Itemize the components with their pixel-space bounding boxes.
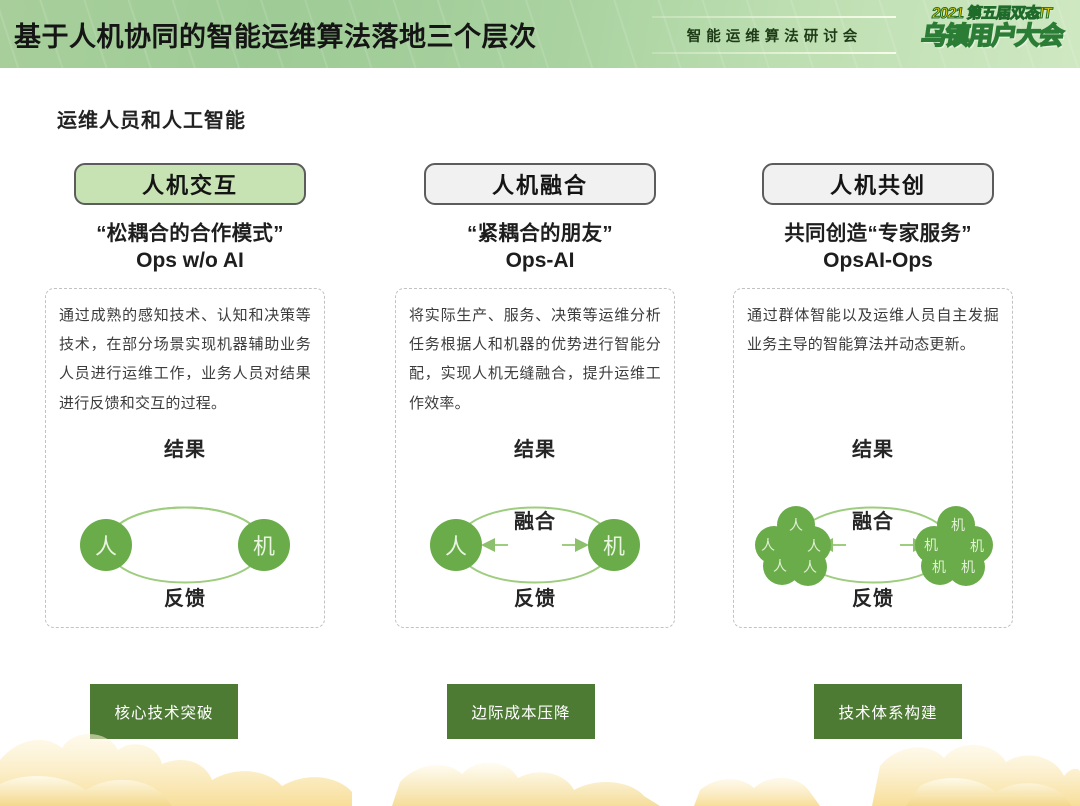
layer-pill-3[interactable]: 人机共创 xyxy=(762,163,994,205)
outcome-button-3[interactable]: 技术体系构建 xyxy=(814,684,962,739)
diagram-right-node-label-2: 机 xyxy=(603,534,625,559)
diagram-center-label-2: 融合 xyxy=(396,505,674,534)
diagram-top-label-1: 结果 xyxy=(46,433,324,462)
cycle-diagram-2: 结果 人 机 融合 反馈 xyxy=(396,433,674,613)
svg-text:机: 机 xyxy=(932,559,946,575)
svg-text:机: 机 xyxy=(961,559,975,575)
page-header: 基于人机协同的智能运维算法落地三个层次 智能运维算法研讨会 2021 第五届双态… xyxy=(0,0,1080,68)
diagram-bottom-label-1: 反馈 xyxy=(46,582,324,611)
diagram-right-node-label-1: 机 xyxy=(253,534,275,559)
outcome-button-2[interactable]: 边际成本压降 xyxy=(447,684,595,739)
svg-text:人: 人 xyxy=(807,538,821,554)
diagram-top-label-3: 结果 xyxy=(734,433,1012,462)
layer-body-card-1: 通过成熟的感知技术、认知和决策等技术，在部分场景实现机器辅助业务人员进行运维工作… xyxy=(45,288,325,628)
layer-body-card-2: 将实际生产、服务、决策等运维分析任务根据人和机器的优势进行智能分配，实现人机无缝… xyxy=(395,288,675,628)
layer-headline-en-2: Ops-AI xyxy=(395,247,685,275)
layer-headline-en-1: Ops w/o AI xyxy=(45,247,335,275)
outcome-button-1[interactable]: 核心技术突破 xyxy=(90,684,238,739)
diagram-center-label-3: 融合 xyxy=(734,505,1012,534)
layer-column-2: 人机融合 “紧耦合的朋友” Ops-AI 将实际生产、服务、决策等运维分析任务根… xyxy=(395,163,685,628)
layer-headline-1: “松耦合的合作模式” Ops w/o AI xyxy=(45,220,335,275)
diagram-left-node-label-2: 人 xyxy=(445,534,467,559)
event-subtitle-block: 智能运维算法研讨会 xyxy=(648,16,896,54)
layer-column-1: 人机交互 “松耦合的合作模式” Ops w/o AI 通过成熟的感知技术、认知和… xyxy=(45,163,335,628)
subtitle-rule-top xyxy=(652,16,896,18)
event-logo-line-2: 乌镇用户大会 xyxy=(914,24,1070,49)
page-title: 基于人机协同的智能运维算法落地三个层次 xyxy=(14,15,537,54)
layer-column-3: 人机共创 共同创造“专家服务” OpsAI-Ops 通过群体智能以及运维人员自主… xyxy=(733,163,1023,628)
event-logo-line-1: 2021 第五届双态IT xyxy=(915,6,1069,21)
svg-text:机: 机 xyxy=(924,537,938,553)
section-heading: 运维人员和人工智能 xyxy=(57,104,246,133)
layer-body-text-1: 通过成熟的感知技术、认知和决策等技术，在部分场景实现机器辅助业务人员进行运维工作… xyxy=(59,301,311,418)
svg-text:人: 人 xyxy=(773,558,787,574)
event-logo: 2021 第五届双态IT 乌镇用户大会 xyxy=(916,6,1068,64)
layer-headline-en-3: OpsAI-Ops xyxy=(733,247,1023,275)
layer-headline-cn-1: “松耦合的合作模式” xyxy=(96,222,284,245)
layer-pill-1[interactable]: 人机交互 xyxy=(74,163,306,205)
diagram-bottom-label-3: 反馈 xyxy=(734,582,1012,611)
layer-headline-cn-3: 共同创造“专家服务” xyxy=(784,222,972,245)
subtitle-rule-bottom xyxy=(652,52,896,54)
layer-pill-2[interactable]: 人机融合 xyxy=(424,163,656,205)
layer-headline-cn-2: “紧耦合的朋友” xyxy=(467,222,613,245)
svg-text:人: 人 xyxy=(761,537,775,553)
diagram-left-node-label-1: 人 xyxy=(95,534,117,559)
svg-text:机: 机 xyxy=(970,538,984,554)
layer-headline-2: “紧耦合的朋友” Ops-AI xyxy=(395,220,685,275)
diagram-bottom-label-2: 反馈 xyxy=(396,582,674,611)
layer-body-text-3: 通过群体智能以及运维人员自主发掘业务主导的智能算法并动态更新。 xyxy=(747,301,999,360)
svg-text:人: 人 xyxy=(803,559,817,575)
layer-body-card-3: 通过群体智能以及运维人员自主发掘业务主导的智能算法并动态更新。 结果 xyxy=(733,288,1013,628)
cycle-diagram-1: 结果 人 机 反馈 xyxy=(46,433,324,613)
cycle-diagram-3: 结果 xyxy=(734,433,1012,613)
layer-body-text-2: 将实际生产、服务、决策等运维分析任务根据人和机器的优势进行智能分配，实现人机无缝… xyxy=(409,301,661,418)
event-subtitle: 智能运维算法研讨会 xyxy=(648,25,896,46)
diagram-top-label-2: 结果 xyxy=(396,433,674,462)
layer-headline-3: 共同创造“专家服务” OpsAI-Ops xyxy=(733,220,1023,275)
